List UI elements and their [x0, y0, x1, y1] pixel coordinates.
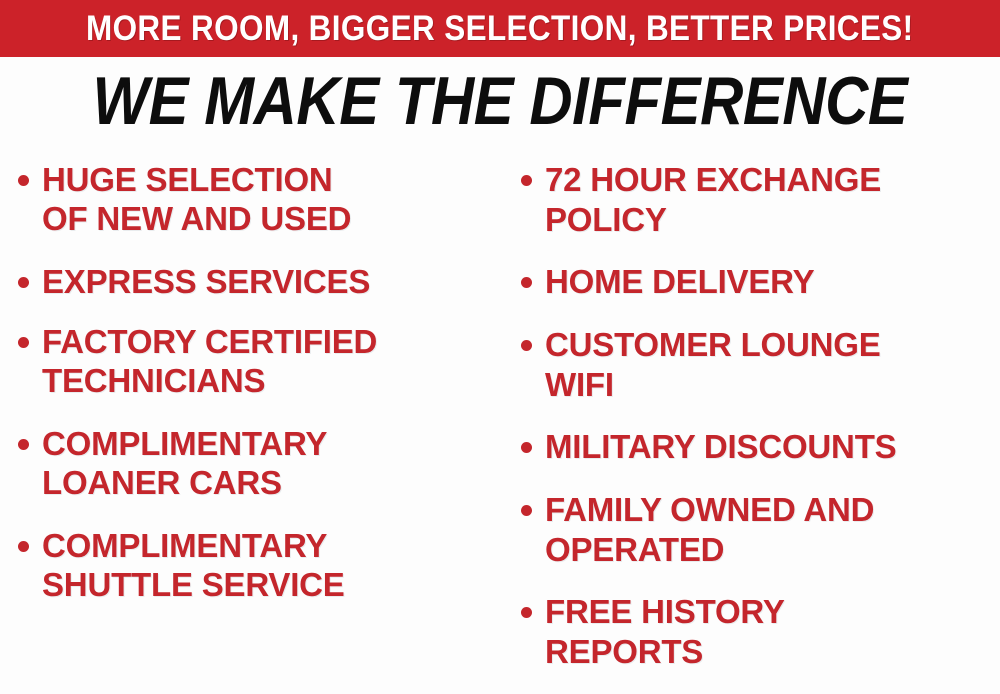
list-item-line-2: WIFI: [545, 366, 614, 403]
list-item-line-1: MILITARY DISCOUNTS: [545, 428, 896, 465]
bullet-dot-icon: [521, 277, 532, 288]
list-item-line-2: OF NEW AND USED: [42, 200, 351, 237]
list-item: EXPRESS SERVICES: [18, 262, 505, 301]
list-item-line-1: HUGE SELECTION: [42, 161, 333, 198]
list-item-line-1: HOME DELIVERY: [545, 263, 814, 300]
bullet-dot-icon: [521, 442, 532, 453]
list-item-label: 72 HOUR EXCHANGE POLICY: [545, 160, 881, 240]
benefits-column-right: 72 HOUR EXCHANGE POLICY HOME DELIVERY CU…: [505, 160, 1000, 694]
list-item: FAMILY OWNED AND OPERATED: [521, 490, 1000, 570]
list-item-label: FACTORY CERTIFIED TECHNICIANS: [42, 322, 377, 400]
benefits-columns: HUGE SELECTION OF NEW AND USED EXPRESS S…: [0, 160, 1000, 694]
bullet-dot-icon: [521, 175, 532, 186]
bullet-dot-icon: [18, 541, 29, 552]
list-item: HUGE SELECTION OF NEW AND USED: [18, 160, 505, 238]
list-item-label: FAMILY OWNED AND OPERATED: [545, 490, 874, 570]
list-item-line-1: FACTORY CERTIFIED: [42, 323, 377, 360]
list-item-label: HOME DELIVERY: [545, 262, 814, 302]
bullet-dot-icon: [521, 607, 532, 618]
list-item: MILITARY DISCOUNTS: [521, 427, 1000, 467]
list-item-line-1: CUSTOMER LOUNGE: [545, 326, 881, 363]
banner-headline-text: MORE ROOM, BIGGER SELECTION, BETTER PRIC…: [86, 11, 914, 46]
benefits-column-left: HUGE SELECTION OF NEW AND USED EXPRESS S…: [0, 160, 505, 628]
promo-poster: MORE ROOM, BIGGER SELECTION, BETTER PRIC…: [0, 0, 1000, 694]
list-item: COMPLIMENTARY LOANER CARS: [18, 424, 505, 502]
list-item-line-2: TECHNICIANS: [42, 362, 265, 399]
list-item-line-1: COMPLIMENTARY: [42, 425, 327, 462]
list-item-line-2: SHUTTLE SERVICE: [42, 566, 345, 603]
list-item-label: HUGE SELECTION OF NEW AND USED: [42, 160, 351, 238]
list-item: COMPLIMENTARY SHUTTLE SERVICE: [18, 526, 505, 604]
bullet-dot-icon: [18, 175, 29, 186]
list-item-label: MILITARY DISCOUNTS: [545, 427, 896, 467]
list-item-line-1: FAMILY OWNED AND: [545, 491, 874, 528]
list-item-label: COMPLIMENTARY SHUTTLE SERVICE: [42, 526, 345, 604]
list-item-label: FREE HISTORY REPORTS: [545, 592, 785, 672]
bullet-dot-icon: [18, 337, 29, 348]
list-item: CUSTOMER LOUNGE WIFI: [521, 325, 1000, 405]
list-item: 72 HOUR EXCHANGE POLICY: [521, 160, 1000, 240]
list-item: FREE HISTORY REPORTS: [521, 592, 1000, 672]
list-item: HOME DELIVERY: [521, 262, 1000, 302]
bullet-dot-icon: [521, 340, 532, 351]
list-item-line-2: OPERATED: [545, 531, 724, 568]
top-banner: MORE ROOM, BIGGER SELECTION, BETTER PRIC…: [0, 0, 1000, 57]
bullet-dot-icon: [18, 277, 29, 288]
page-title-text: WE MAKE THE DIFFERENCE: [93, 66, 908, 136]
list-item-label: COMPLIMENTARY LOANER CARS: [42, 424, 327, 502]
list-item-label: CUSTOMER LOUNGE WIFI: [545, 325, 881, 405]
list-item-line-1: FREE HISTORY: [545, 593, 785, 630]
list-item-line-1: 72 HOUR EXCHANGE: [545, 161, 881, 198]
list-item-line-1: COMPLIMENTARY: [42, 527, 327, 564]
page-title: WE MAKE THE DIFFERENCE: [0, 66, 1000, 136]
list-item-line-1: EXPRESS SERVICES: [42, 263, 370, 300]
list-item-line-2: REPORTS: [545, 633, 703, 670]
list-item: FACTORY CERTIFIED TECHNICIANS: [18, 322, 505, 400]
list-item-line-2: POLICY: [545, 201, 667, 238]
bullet-dot-icon: [18, 439, 29, 450]
list-item-line-2: LOANER CARS: [42, 464, 282, 501]
bullet-dot-icon: [521, 505, 532, 516]
list-item-label: EXPRESS SERVICES: [42, 262, 370, 301]
